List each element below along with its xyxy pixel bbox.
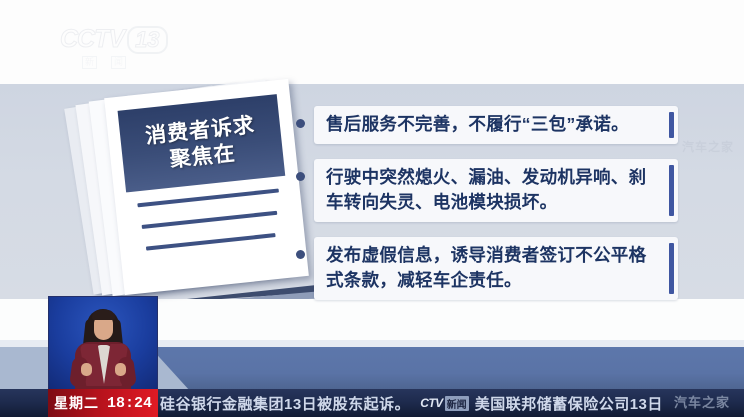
ticker-headline-2: 美国联邦储蓄保险公司13日	[475, 393, 663, 414]
bullet-text: 发布虚假信息，诱导消费者签订不公平格式条款，减轻车企责任。	[326, 243, 664, 293]
ticker-clock: 18:24	[107, 395, 152, 412]
paper-stack-graphic: 消费者诉求 聚焦在	[78, 88, 308, 293]
bullet-bubble: 发布虚假信息，诱导消费者签订不公平格式条款，减轻车企责任。	[314, 237, 678, 300]
paper-text-line-3	[146, 233, 276, 251]
ticker-cctv-mini-logo: CTV 新闻	[420, 396, 469, 411]
anchor-video-inset	[48, 296, 158, 391]
bullet-dot-icon	[296, 250, 305, 259]
headline-banner-line2: 聚焦在	[169, 140, 237, 172]
watermark-top-right: 汽车之家	[682, 138, 734, 155]
anchor-hand-left	[81, 363, 92, 376]
watermark-bottom-right: 汽车之家	[674, 392, 730, 411]
ticker-cctv-mini-badge: 新闻	[445, 396, 469, 411]
ticker-headline-1: 硅谷银行金融集团13日被股东起诉。	[160, 393, 410, 414]
bullet-accent-bar	[669, 243, 674, 294]
bullet-list: 售后服务不完善，不履行“三包”承诺。 行驶中突然熄火、漏油、发动机异响、刹车转向…	[296, 106, 678, 315]
cctv-logo-text: CCTV	[60, 25, 124, 54]
paper-sheet-main: 消费者诉求 聚焦在	[104, 79, 309, 295]
cctv-channel-number: 13	[127, 26, 167, 54]
anchor-fringe	[92, 310, 115, 320]
cctv-channel-logo: CCTV 13 新 闻	[60, 25, 168, 69]
bullet-accent-bar	[669, 112, 674, 138]
bullet-dot-icon	[296, 119, 305, 128]
ticker-weekday: 星期二	[54, 393, 99, 413]
headline-banner: 消费者诉求 聚焦在	[118, 94, 286, 192]
ticker-time-box: 星期二 18:24	[48, 389, 158, 417]
bullet-item: 售后服务不完善，不履行“三包”承诺。	[296, 106, 678, 144]
bullet-bubble: 行驶中突然熄火、漏油、发动机异响、刹车转向失灵、电池模块损坏。	[314, 159, 678, 222]
broadcast-screen: CCTV 13 新 闻 消费者诉求 聚焦在 售后服务不完善，不履行“三包”承诺。	[0, 0, 744, 417]
bullet-item: 发布虚假信息，诱导消费者签订不公平格式条款，减轻车企责任。	[296, 237, 678, 300]
anchor-hand-right	[115, 363, 126, 376]
paper-text-line-2	[142, 211, 278, 229]
bullet-item: 行驶中突然熄火、漏油、发动机异响、刹车转向失灵、电池模块损坏。	[296, 159, 678, 222]
bullet-bubble: 售后服务不完善，不履行“三包”承诺。	[314, 106, 678, 144]
bullet-dot-icon	[296, 172, 305, 181]
news-ticker: 硅谷银行金融集团13日被股东起诉。 CTV 新闻 美国联邦储蓄保险公司13日	[160, 389, 744, 417]
ticker-cctv-mini-text: CTV	[420, 396, 443, 410]
bullet-accent-bar	[669, 165, 674, 216]
paper-text-line-1	[137, 188, 279, 207]
bullet-text: 售后服务不完善，不履行“三包”承诺。	[326, 112, 664, 137]
cctv-logo-sub-left: 新	[82, 56, 97, 69]
bullet-text: 行驶中突然熄火、漏油、发动机异响、刹车转向失灵、电池模块损坏。	[326, 165, 664, 215]
cctv-logo-sub-right: 闻	[111, 56, 126, 69]
